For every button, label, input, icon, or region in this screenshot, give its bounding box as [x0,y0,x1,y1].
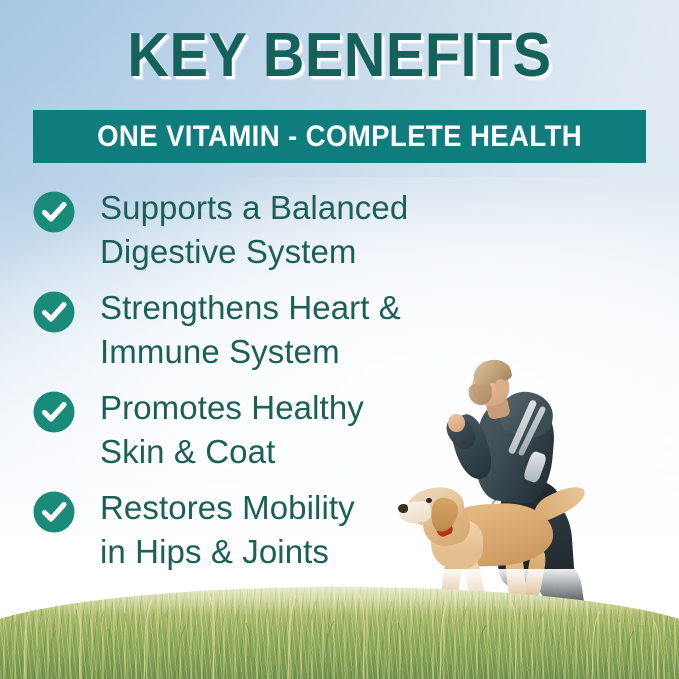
benefit-text-skin: Promotes Healthy Skin & Coat [100,386,364,474]
benefit-item-skin: Promotes Healthy Skin & Coat [33,386,463,474]
check-circle-icon [33,391,75,433]
benefit-text-mobility: Restores Mobility in Hips & Joints [100,486,355,574]
subtitle-banner: ONE VITAMIN - COMPLETE HEALTH [33,110,646,163]
benefit-text-heart: Strengthens Heart & Immune System [100,286,401,374]
runner-ear [495,379,506,392]
page-title: KEY BENEFITS [24,22,655,90]
benefit-item-heart: Strengthens Heart & Immune System [33,286,463,374]
benefit-item-mobility: Restores Mobility in Hips & Joints [33,486,463,574]
benefit-text-digestive: Supports a Balanced Digestive System [100,186,408,274]
infographic-canvas: KEY BENEFITS ONE VITAMIN - COMPLETE HEAL… [0,0,679,679]
check-circle-icon [33,191,75,233]
check-circle-icon [33,291,75,333]
benefits-list: Supports a Balanced Digestive System Str… [33,186,463,586]
subtitle-banner-text: ONE VITAMIN - COMPLETE HEALTH [97,120,582,154]
benefit-item-digestive: Supports a Balanced Digestive System [33,186,463,274]
check-circle-icon [33,491,75,533]
